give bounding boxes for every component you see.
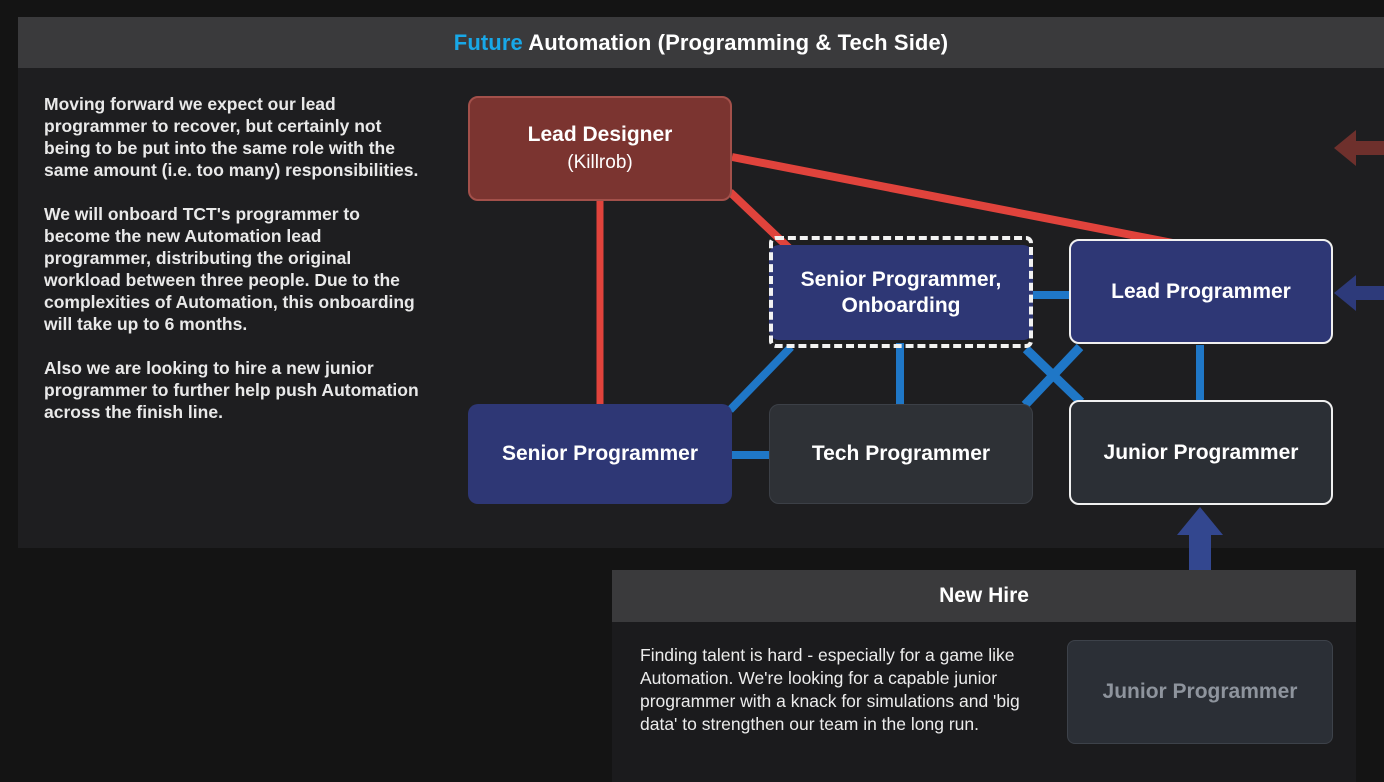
new-hire-junior-programmer-card[interactable]: Junior Programmer bbox=[1067, 640, 1333, 744]
edge-leaddesigner-onboarding bbox=[730, 192, 790, 249]
arrow-up-blue-icon bbox=[1165, 505, 1235, 575]
new-hire-card-label: Junior Programmer bbox=[1103, 680, 1298, 704]
node-senior-programmer[interactable]: Senior Programmer bbox=[468, 404, 732, 504]
node-junior-programmer[interactable]: Junior Programmer bbox=[1069, 400, 1333, 505]
new-hire-description: Finding talent is hard - especially for … bbox=[640, 644, 1060, 736]
node-onboarding-line1: Senior Programmer, bbox=[801, 267, 1002, 293]
node-junior-programmer-title: Junior Programmer bbox=[1104, 440, 1299, 466]
node-lead-designer[interactable]: Lead Designer (Killrob) bbox=[468, 96, 732, 201]
new-hire-header: New Hire bbox=[612, 570, 1356, 622]
node-lead-programmer-title: Lead Programmer bbox=[1111, 279, 1291, 305]
node-tech-programmer[interactable]: Tech Programmer bbox=[769, 404, 1033, 504]
arrow-left-blue-icon bbox=[1332, 263, 1384, 323]
new-hire-title: New Hire bbox=[939, 584, 1029, 608]
node-senior-programmer-onboarding[interactable]: Senior Programmer, Onboarding bbox=[769, 245, 1033, 340]
screen-root: Future Automation (Programming & Tech Si… bbox=[0, 0, 1384, 782]
edge-seniorprogrammer-onboarding bbox=[730, 347, 791, 410]
node-tech-programmer-title: Tech Programmer bbox=[812, 441, 990, 467]
new-hire-panel: New Hire Finding talent is hard - especi… bbox=[612, 570, 1356, 782]
node-onboarding-line2: Onboarding bbox=[842, 293, 961, 319]
org-diagram: Lead Designer (Killrob) Senior Programme… bbox=[18, 17, 1384, 548]
node-senior-programmer-title: Senior Programmer bbox=[502, 441, 698, 467]
new-hire-body: Finding talent is hard - especially for … bbox=[612, 622, 1356, 736]
node-lead-designer-title: Lead Designer bbox=[528, 122, 673, 148]
edge-leaddesigner-leadprogrammer bbox=[732, 157, 1183, 245]
future-automation-panel: Future Automation (Programming & Tech Si… bbox=[18, 17, 1384, 548]
node-lead-designer-subtitle: (Killrob) bbox=[567, 150, 632, 176]
arrow-left-red-icon bbox=[1332, 118, 1384, 178]
node-lead-programmer[interactable]: Lead Programmer bbox=[1069, 239, 1333, 344]
